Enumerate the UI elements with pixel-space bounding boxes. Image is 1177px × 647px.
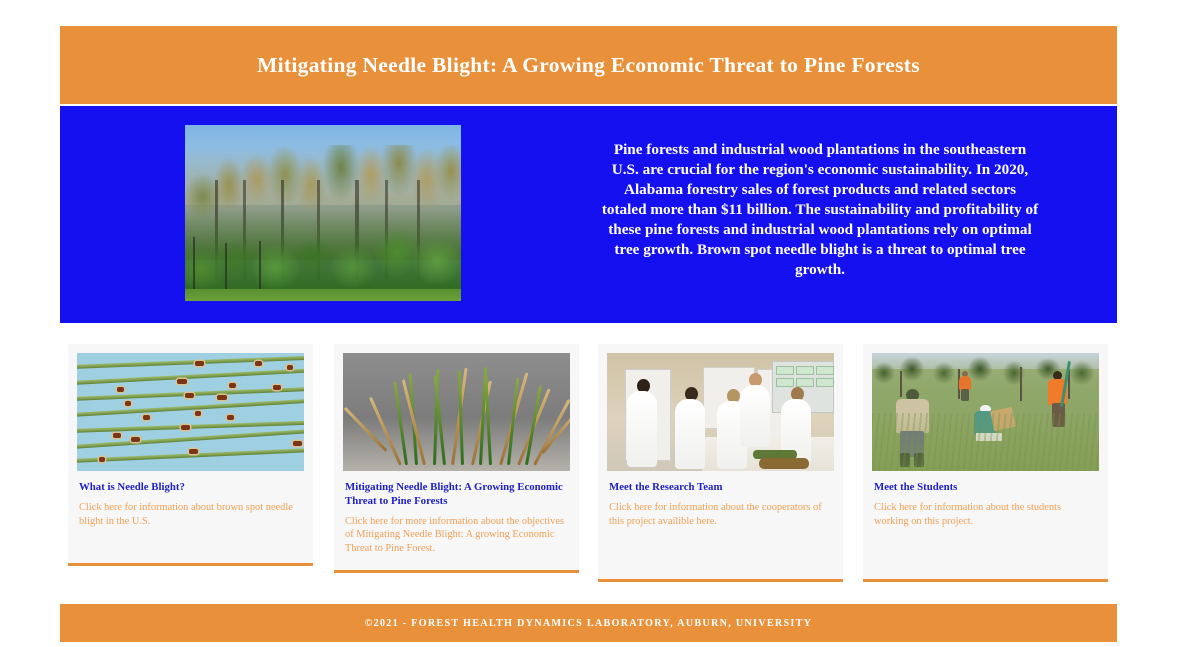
hero-image-frame <box>183 123 463 303</box>
hero-paragraph: Pine forests and industrial wood plantat… <box>600 140 1040 280</box>
site-header-banner: Mitigating Needle Blight: A Growing Econ… <box>60 26 1117 104</box>
card-title[interactable]: Meet the Research Team <box>609 481 832 495</box>
lab-supply-box <box>796 378 814 387</box>
card-description-link[interactable]: Click here for information about brown s… <box>79 501 302 528</box>
hero-photo-utility-pole <box>193 237 195 289</box>
pine-needle <box>77 355 304 369</box>
blight-lesion <box>99 457 105 462</box>
field-tree-trunk <box>1020 367 1022 401</box>
site-footer: ©2021 - Forest Health Dynamics Laborator… <box>60 604 1117 642</box>
card-body: Meet the Research Team Click here for in… <box>607 471 834 528</box>
card-title[interactable]: What is Needle Blight? <box>79 481 302 495</box>
blight-lesion <box>181 425 190 430</box>
card-image-seedling <box>343 353 570 471</box>
card-title[interactable]: Meet the Students <box>874 481 1097 495</box>
hero-forest-photo <box>185 125 461 301</box>
seedling-needle <box>541 408 570 454</box>
card-image-students-fieldwork <box>872 353 1099 471</box>
blight-lesion <box>113 433 121 438</box>
page-title: Mitigating Needle Blight: A Growing Econ… <box>257 53 920 78</box>
researcher-labcoat <box>740 385 770 447</box>
card-meet-the-research-team[interactable]: Meet the Research Team Click here for in… <box>598 344 843 582</box>
blight-lesion <box>229 383 236 388</box>
lab-supply-box <box>816 366 834 375</box>
researcher-labcoat <box>675 399 705 469</box>
blight-lesion <box>189 449 198 454</box>
blight-lesion <box>287 365 293 370</box>
blight-lesion <box>143 415 150 420</box>
card-meet-the-students[interactable]: Meet the Students Click here for informa… <box>863 344 1108 582</box>
pine-needle <box>77 367 304 385</box>
hero-photo-utility-pole <box>225 243 227 289</box>
hero-photo-grass <box>185 289 461 301</box>
card-body: What is Needle Blight? Click here for in… <box>77 471 304 528</box>
cards-row: What is Needle Blight? Click here for in… <box>60 344 1117 584</box>
card-image-research-team <box>607 353 834 471</box>
blight-lesion <box>117 387 124 392</box>
card-what-is-needle-blight[interactable]: What is Needle Blight? Click here for in… <box>68 344 313 566</box>
page-root: Mitigating Needle Blight: A Growing Econ… <box>0 0 1177 647</box>
card-description-link[interactable]: Click here for information about the stu… <box>874 501 1097 528</box>
blight-lesion <box>185 393 194 398</box>
lab-supply-box <box>776 366 794 375</box>
researcher-labcoat <box>627 391 657 467</box>
card-description-link[interactable]: Click here for information about the coo… <box>609 501 832 528</box>
hero-section: Pine forests and industrial wood plantat… <box>60 106 1117 323</box>
blight-lesion <box>255 361 262 366</box>
footer-copyright: ©2021 - Forest Health Dynamics Laborator… <box>365 618 813 629</box>
blight-lesion <box>131 437 140 442</box>
field-tree-trunk <box>900 371 902 397</box>
blight-lesion <box>227 415 234 420</box>
seedling-needle <box>344 407 388 452</box>
blight-lesion <box>177 379 187 384</box>
card-body: Meet the Students Click here for informa… <box>872 471 1099 528</box>
card-title[interactable]: Mitigating Needle Blight: A Growing Econ… <box>345 481 568 509</box>
lab-supply-box <box>816 378 834 387</box>
card-mitigating-needle-blight[interactable]: Mitigating Needle Blight: A Growing Econ… <box>334 344 579 573</box>
blight-lesion <box>293 441 302 446</box>
card-body: Mitigating Needle Blight: A Growing Econ… <box>343 471 570 556</box>
seedling-needle <box>507 377 519 465</box>
card-description-link[interactable]: Click here for more information about th… <box>345 515 568 556</box>
lab-supply-box <box>776 378 794 387</box>
blight-lesion <box>217 395 227 400</box>
field-grass-overlay <box>872 413 1099 471</box>
hero-photo-utility-pole <box>259 241 261 289</box>
blight-lesion <box>195 361 204 366</box>
lab-supply-box <box>796 366 814 375</box>
card-image-needles <box>77 353 304 471</box>
blight-lesion <box>273 385 281 390</box>
blight-lesion <box>125 401 131 406</box>
pine-needle <box>77 397 304 417</box>
blight-lesion <box>195 411 201 416</box>
bark-sample-on-bench <box>759 458 809 469</box>
